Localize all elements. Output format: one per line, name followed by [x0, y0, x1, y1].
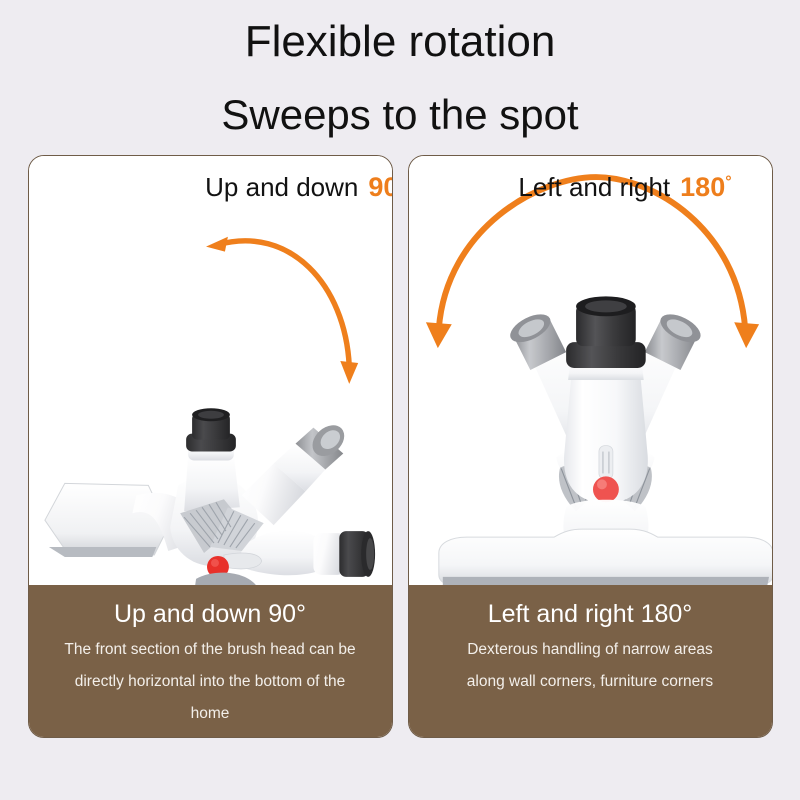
card-image-area-up-and-down: Up and down90°: [29, 156, 392, 585]
headline-block: Flexible rotation Sweeps to the spot: [0, 0, 800, 136]
footer-line-1: The front section of the brush head can …: [43, 634, 378, 666]
product-stage-left-and-right: [409, 156, 772, 585]
card-footer-left-and-right: Left and right 180° Dexterous handling o…: [409, 585, 772, 737]
release-button: [592, 476, 618, 502]
footer-line-1: Dexterous handling of narrow areas: [423, 634, 758, 666]
dark-connector-top: [186, 408, 236, 451]
vacuum-brush-head-front-illustration: [409, 156, 772, 585]
footer-line-3: home: [43, 698, 378, 730]
card-title-label: Up and down: [205, 172, 358, 202]
card-title-degrees: 90: [368, 172, 391, 202]
card-title-up-and-down: Up and down90°: [29, 172, 392, 203]
headline-secondary: Sweeps to the spot: [0, 64, 800, 136]
product-stage-up-and-down: [29, 156, 392, 585]
card-footer-up-and-down: Up and down 90° The front section of the…: [29, 585, 392, 737]
footer-line-2: directly horizontal into the bottom of t…: [43, 666, 378, 698]
footer-title: Left and right 180°: [423, 599, 758, 630]
diagonal-tube-upper-right: [241, 419, 349, 525]
vacuum-brush-head-angled-illustration: [29, 156, 392, 585]
footer-title: Up and down 90°: [43, 599, 378, 630]
dark-connector-center: [566, 296, 646, 368]
headline-primary: Flexible rotation: [0, 8, 800, 64]
card-title-label: Left and right: [518, 172, 670, 202]
card-title-degrees: 180: [680, 172, 725, 202]
right-arm: [239, 531, 374, 577]
degree-symbol-icon: °: [725, 173, 731, 190]
feature-card-up-and-down[interactable]: Up and down90°: [28, 155, 393, 738]
card-title-left-and-right: Left and right180°: [409, 172, 772, 203]
card-image-area-left-and-right: Left and right180°: [409, 156, 772, 585]
footer-line-2: along wall corners, furniture corners: [423, 666, 758, 698]
brush-plate: [438, 529, 771, 585]
feature-card-left-and-right[interactable]: Left and right180°: [408, 155, 773, 738]
feature-cards-row: Up and down90°: [0, 155, 800, 740]
